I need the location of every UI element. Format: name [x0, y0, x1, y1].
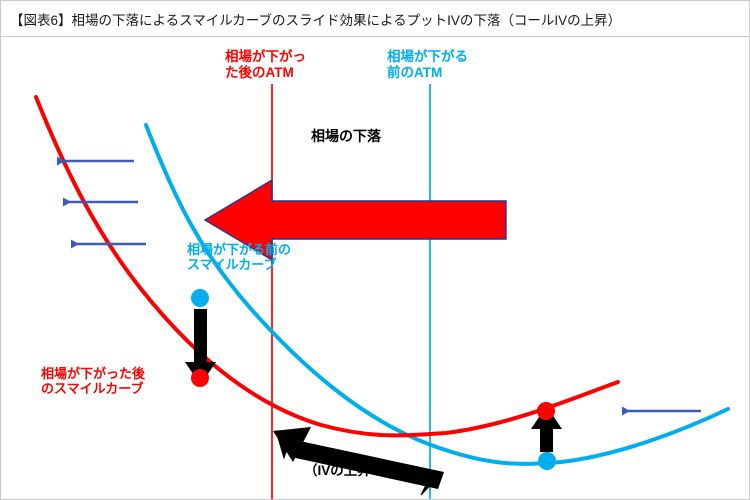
label-smile-curve-after-drop: 相場が下がった後 のスマイルカーブ: [41, 366, 145, 397]
page-title: 【図表6】相場の下落によるスマイルカーブのスライド効果によるプットIVの下落（コ…: [10, 9, 621, 29]
label-smile-curve-before-drop: 相場が下がる前の スマイルカーブ: [187, 242, 291, 273]
marker-put-after-drop: [191, 369, 209, 387]
chart-plot-area: [1, 37, 749, 499]
label-market-drop: 相場の下落: [311, 128, 381, 145]
smile-curve-before-drop: [146, 125, 728, 464]
figure-header: 【図表6】相場の下落によるスマイルカーブのスライド効果によるプットIVの下落（コ…: [1, 1, 749, 36]
marker-put-before-drop: [191, 289, 209, 307]
smile-curve-svg: [1, 37, 749, 499]
figure-container: 【図表6】相場の下落によるスマイルカーブのスライド効果によるプットIVの下落（コ…: [0, 0, 750, 500]
label-atm-after-drop: 相場が下がっ た後のATM: [225, 49, 306, 81]
label-atm-before-drop: 相場が下がる 前のATM: [387, 49, 468, 81]
label-iv-rise-note: （IVの上昇も）: [304, 463, 398, 479]
marker-call-before-drop: [538, 452, 556, 470]
marker-call-after-drop: [537, 402, 555, 420]
